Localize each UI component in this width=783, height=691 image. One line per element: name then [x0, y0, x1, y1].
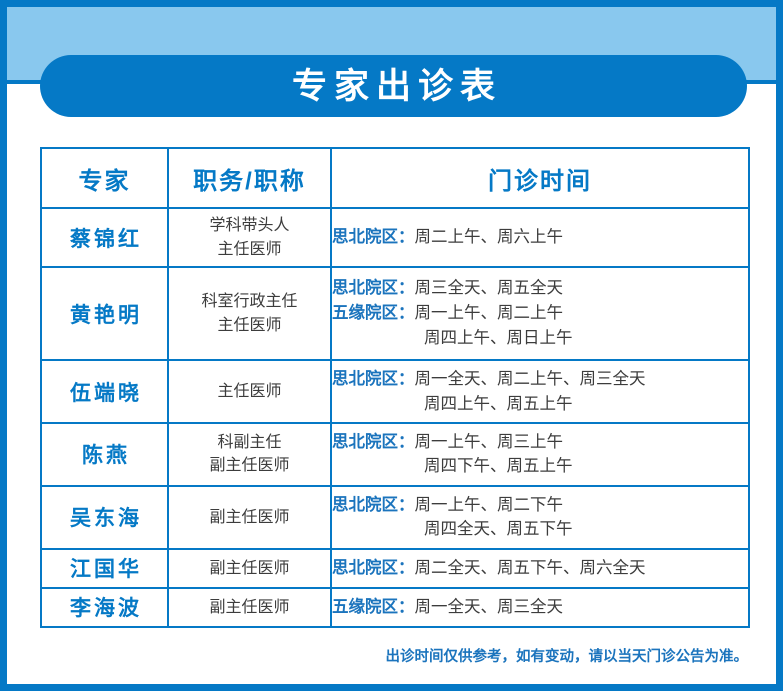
schedule-text: 周一全天、周三全天 — [415, 598, 564, 616]
campus-label: 思北院区： — [332, 370, 415, 388]
schedule-text: 周一上午、周二下午 — [415, 496, 564, 514]
expert-name-cell: 李海波 — [41, 588, 168, 627]
table-row: 蔡锦红学科带头人主任医师思北院区：周二上午、周六上午 — [41, 208, 749, 267]
clinic-time-cell: 思北院区：周三全天、周五全天五缘院区：周一上午、周二上午周四上午、周日上午 — [331, 267, 749, 360]
schedule-table-body: 蔡锦红学科带头人主任医师思北院区：周二上午、周六上午黄艳明科室行政主任主任医师思… — [41, 208, 749, 627]
schedule-text: 周四全天、周五下午 — [424, 520, 573, 538]
table-row: 李海波副主任医师五缘院区：周一全天、周三全天 — [41, 588, 749, 627]
expert-position-cell: 副主任医师 — [168, 549, 331, 588]
clinic-time-line: 周四上午、周五上午 — [332, 392, 748, 417]
table-header-row: 专家 职务/职称 门诊时间 — [41, 148, 749, 208]
expert-name-cell: 江国华 — [41, 549, 168, 588]
schedule-text: 周二上午、周六上午 — [415, 228, 564, 246]
schedule-text: 周二全天、周五下午、周六全天 — [415, 559, 646, 577]
table-row: 黄艳明科室行政主任主任医师思北院区：周三全天、周五全天五缘院区：周一上午、周二上… — [41, 267, 749, 360]
clinic-time-line: 思北院区：周一全天、周二上午、周三全天 — [332, 367, 748, 392]
campus-label: 思北院区： — [332, 228, 415, 246]
campus-label: 五缘院区： — [332, 598, 415, 616]
page-title: 专家出诊表 — [285, 69, 502, 104]
expert-name-cell: 黄艳明 — [41, 267, 168, 360]
campus-label: 思北院区： — [332, 496, 415, 514]
clinic-time-line: 周四下午、周五上午 — [332, 454, 748, 479]
clinic-time-line: 思北院区：周三全天、周五全天 — [332, 276, 748, 301]
schedule-text: 周三全天、周五全天 — [415, 279, 564, 297]
expert-position-cell: 学科带头人主任医师 — [168, 208, 331, 267]
expert-clinic-schedule-poster: 专家出诊表 专家 职务/职称 门诊时间 蔡锦红学科带头人主任医师思北院区：周二上… — [0, 0, 783, 691]
schedule-text: 周一全天、周二上午、周三全天 — [415, 370, 646, 388]
schedule-text: 周一上午、周三上午 — [415, 433, 564, 451]
table-row: 吴东海副主任医师思北院区：周一上午、周二下午周四全天、周五下午 — [41, 486, 749, 549]
position-line: 科副主任 — [169, 431, 330, 454]
column-header-title: 职务/职称 — [168, 148, 331, 208]
clinic-time-line: 思北院区：周一上午、周二下午 — [332, 493, 748, 518]
clinic-time-cell: 思北院区：周一上午、周二下午周四全天、周五下午 — [331, 486, 749, 549]
campus-label: 思北院区： — [332, 433, 415, 451]
expert-position-cell: 主任医师 — [168, 360, 331, 423]
position-line: 学科带头人 — [169, 214, 330, 237]
campus-label: 思北院区： — [332, 559, 415, 577]
column-header-time: 门诊时间 — [331, 148, 749, 208]
footnote-disclaimer: 出诊时间仅供参考，如有变动，请以当天门诊公告为准。 — [40, 645, 748, 666]
clinic-time-line: 周四全天、周五下午 — [332, 517, 748, 542]
frame-border-bottom — [0, 684, 783, 691]
position-line: 副主任医师 — [169, 557, 330, 580]
expert-position-cell: 副主任医师 — [168, 588, 331, 627]
expert-name-cell: 陈燕 — [41, 423, 168, 486]
clinic-time-line: 思北院区：周一上午、周三上午 — [332, 430, 748, 455]
clinic-time-cell: 思北院区：周一全天、周二上午、周三全天周四上午、周五上午 — [331, 360, 749, 423]
schedule-table-wrapper: 专家 职务/职称 门诊时间 蔡锦红学科带头人主任医师思北院区：周二上午、周六上午… — [40, 147, 748, 628]
expert-name-cell: 吴东海 — [41, 486, 168, 549]
expert-position-cell: 副主任医师 — [168, 486, 331, 549]
table-row: 江国华副主任医师思北院区：周二全天、周五下午、周六全天 — [41, 549, 749, 588]
clinic-time-line: 思北院区：周二全天、周五下午、周六全天 — [332, 556, 748, 581]
position-line: 主任医师 — [169, 380, 330, 403]
expert-name-cell: 伍端晓 — [41, 360, 168, 423]
position-line: 副主任医师 — [169, 506, 330, 529]
schedule-text: 周一上午、周二上午 — [415, 304, 564, 322]
clinic-time-cell: 五缘院区：周一全天、周三全天 — [331, 588, 749, 627]
title-pill: 专家出诊表 — [40, 55, 747, 117]
clinic-time-line: 思北院区：周二上午、周六上午 — [332, 225, 748, 250]
schedule-text: 周四下午、周五上午 — [424, 457, 573, 475]
clinic-time-cell: 思北院区：周一上午、周三上午周四下午、周五上午 — [331, 423, 749, 486]
position-line: 主任医师 — [169, 238, 330, 261]
clinic-time-cell: 思北院区：周二上午、周六上午 — [331, 208, 749, 267]
clinic-time-cell: 思北院区：周二全天、周五下午、周六全天 — [331, 549, 749, 588]
schedule-table-head: 专家 职务/职称 门诊时间 — [41, 148, 749, 208]
frame-border-right — [776, 0, 783, 691]
campus-label: 思北院区： — [332, 279, 415, 297]
column-header-name: 专家 — [41, 148, 168, 208]
schedule-text: 周四上午、周日上午 — [424, 329, 573, 347]
frame-border-top — [0, 0, 783, 7]
position-line: 主任医师 — [169, 314, 330, 337]
position-line: 副主任医师 — [169, 454, 330, 477]
clinic-time-line: 五缘院区：周一全天、周三全天 — [332, 595, 748, 620]
schedule-table: 专家 职务/职称 门诊时间 蔡锦红学科带头人主任医师思北院区：周二上午、周六上午… — [40, 147, 750, 628]
position-line: 副主任医师 — [169, 596, 330, 619]
expert-position-cell: 科室行政主任主任医师 — [168, 267, 331, 360]
table-row: 陈燕科副主任副主任医师思北院区：周一上午、周三上午周四下午、周五上午 — [41, 423, 749, 486]
frame-border-left — [0, 0, 7, 691]
campus-label: 五缘院区： — [332, 304, 415, 322]
clinic-time-line: 五缘院区：周一上午、周二上午 — [332, 301, 748, 326]
schedule-text: 周四上午、周五上午 — [424, 395, 573, 413]
position-line: 科室行政主任 — [169, 290, 330, 313]
expert-name-cell: 蔡锦红 — [41, 208, 168, 267]
table-row: 伍端晓主任医师思北院区：周一全天、周二上午、周三全天周四上午、周五上午 — [41, 360, 749, 423]
clinic-time-line: 周四上午、周日上午 — [332, 326, 748, 351]
expert-position-cell: 科副主任副主任医师 — [168, 423, 331, 486]
